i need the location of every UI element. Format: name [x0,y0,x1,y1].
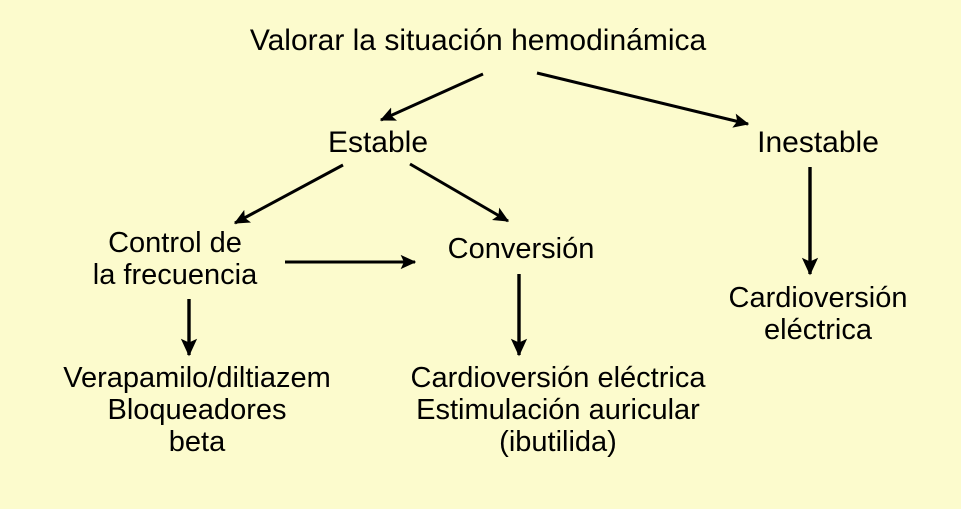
node-control-frecuencia: Control de la frecuencia [93,228,257,292]
node-conversion: Conversión [448,234,595,266]
node-farmacos-line-1: Verapamilo/diltiazem [63,363,331,395]
node-farmacos: Verapamilo/diltiazem Bloqueadores beta [63,363,331,459]
node-farmacos-line-2: Bloqueadores [63,395,331,427]
node-control-frecuencia-line-1: Control de [93,228,257,260]
node-estable: Estable [328,126,428,159]
node-inestable-line-1: Inestable [757,126,879,159]
node-control-frecuencia-line-2: la frecuencia [93,260,257,292]
edge-root-to-inestable [537,73,748,124]
node-cardioversion-central-line-2: Estimulación auricular [411,395,706,427]
node-root-line-1: Valorar la situación hemodinámica [250,24,706,57]
node-conversion-line-1: Conversión [448,234,595,266]
node-farmacos-line-3: beta [63,427,331,459]
edge-estable-to-conversion [410,164,508,221]
node-cardioversion-central: Cardioversión eléctrica Estimulación aur… [411,363,706,459]
node-cardioversion-derecha-line-2: eléctrica [729,315,908,347]
node-estable-line-1: Estable [328,126,428,159]
node-cardioversion-derecha-line-1: Cardioversión [729,283,908,315]
node-cardioversion-central-line-3: (ibutilida) [411,427,706,459]
node-inestable: Inestable [757,126,879,159]
node-cardioversion-derecha: Cardioversión eléctrica [729,283,908,347]
edge-estable-to-control [235,165,343,223]
node-root: Valorar la situación hemodinámica [250,24,706,57]
flowchart-canvas: Valorar la situación hemodinámica Establ… [0,0,961,509]
node-cardioversion-central-line-1: Cardioversión eléctrica [411,363,706,395]
edge-root-to-estable [381,74,483,120]
